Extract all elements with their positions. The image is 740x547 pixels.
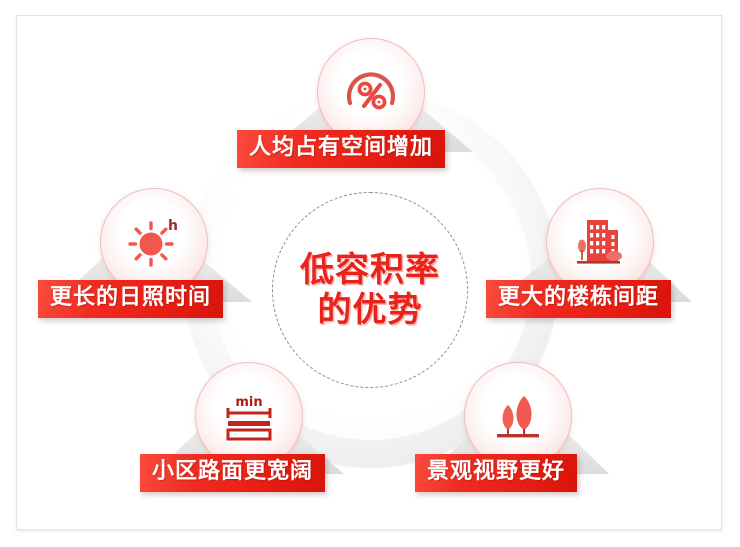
node-better-views[interactable]: 景观视野更好: [415, 362, 619, 508]
node-wider-roads[interactable]: min 小区路面更宽阔: [140, 362, 356, 508]
node-label: 更长的日照时间: [38, 280, 223, 318]
node-building-spacing[interactable]: 更大的楼栋间距: [480, 188, 712, 336]
center-title: 低容积率 的优势: [272, 192, 468, 388]
infographic-canvas: 低容积率 的优势 人均占有空间增加: [0, 0, 740, 547]
center-title-line-2: 的优势: [318, 291, 423, 329]
node-label: 景观视野更好: [415, 454, 577, 492]
center-title-line-1: 低容积率: [300, 251, 440, 289]
min-unit-text: min: [235, 395, 262, 410]
node-label: 更大的楼栋间距: [486, 280, 671, 318]
node-sunlight-hours[interactable]: h 更长的日照时间: [38, 188, 268, 336]
hours-unit-text: h: [168, 218, 178, 234]
node-label: 人均占有空间增加: [237, 130, 445, 168]
node-per-capita-space[interactable]: 人均占有空间增加: [237, 38, 503, 178]
node-label: 小区路面更宽阔: [140, 454, 325, 492]
